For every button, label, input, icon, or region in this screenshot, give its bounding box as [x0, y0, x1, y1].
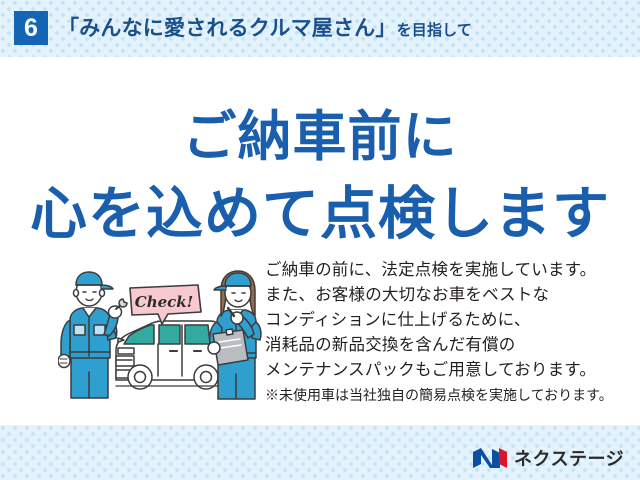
section-number-badge: 6	[14, 11, 48, 45]
body-copy-line-5: メンテナンスパックもご用意しております。	[265, 358, 630, 383]
body-copy: ご納車の前に、法定点検を実施しています。 また、お客様の大切なお車をベストな コ…	[265, 258, 630, 407]
nexstage-n-logo-icon	[472, 447, 508, 469]
body-copy-line-1: ご納車の前に、法定点検を実施しています。	[265, 258, 630, 283]
brand-name-label: ネクステージ	[514, 445, 624, 471]
header-title-suffix: を目指して	[397, 19, 473, 40]
body-copy-line-2: また、お客様の大切なお車をベストな	[265, 283, 630, 308]
header-title-quoted: 「みんなに愛されるクルマ屋さん」	[58, 12, 397, 42]
body-copy-line-3: コンディションに仕上げるために、	[265, 308, 630, 333]
mechanics-illustration: Check!	[58, 268, 263, 403]
headline-line-1: ご納車前に	[0, 92, 640, 171]
check-bubble-label: Check!	[135, 293, 194, 311]
headline-line-2: 心を込めて点検します	[0, 168, 640, 250]
mechanics-illustration-svg: Check!	[58, 268, 263, 403]
body-copy-line-4: 消耗品の新品交換を含んだ有償の	[265, 333, 630, 358]
promo-banner: 6 「みんなに愛されるクルマ屋さん」 を目指して ご納車前に 心を込めて点検しま…	[0, 0, 640, 480]
body-copy-note: ※未使用車は当社独自の簡易点検を実施しております。	[265, 383, 630, 407]
brand-logo: ネクステージ	[472, 446, 624, 470]
header-title: 「みんなに愛されるクルマ屋さん」 を目指して	[58, 12, 472, 46]
van-illustration	[116, 321, 224, 389]
